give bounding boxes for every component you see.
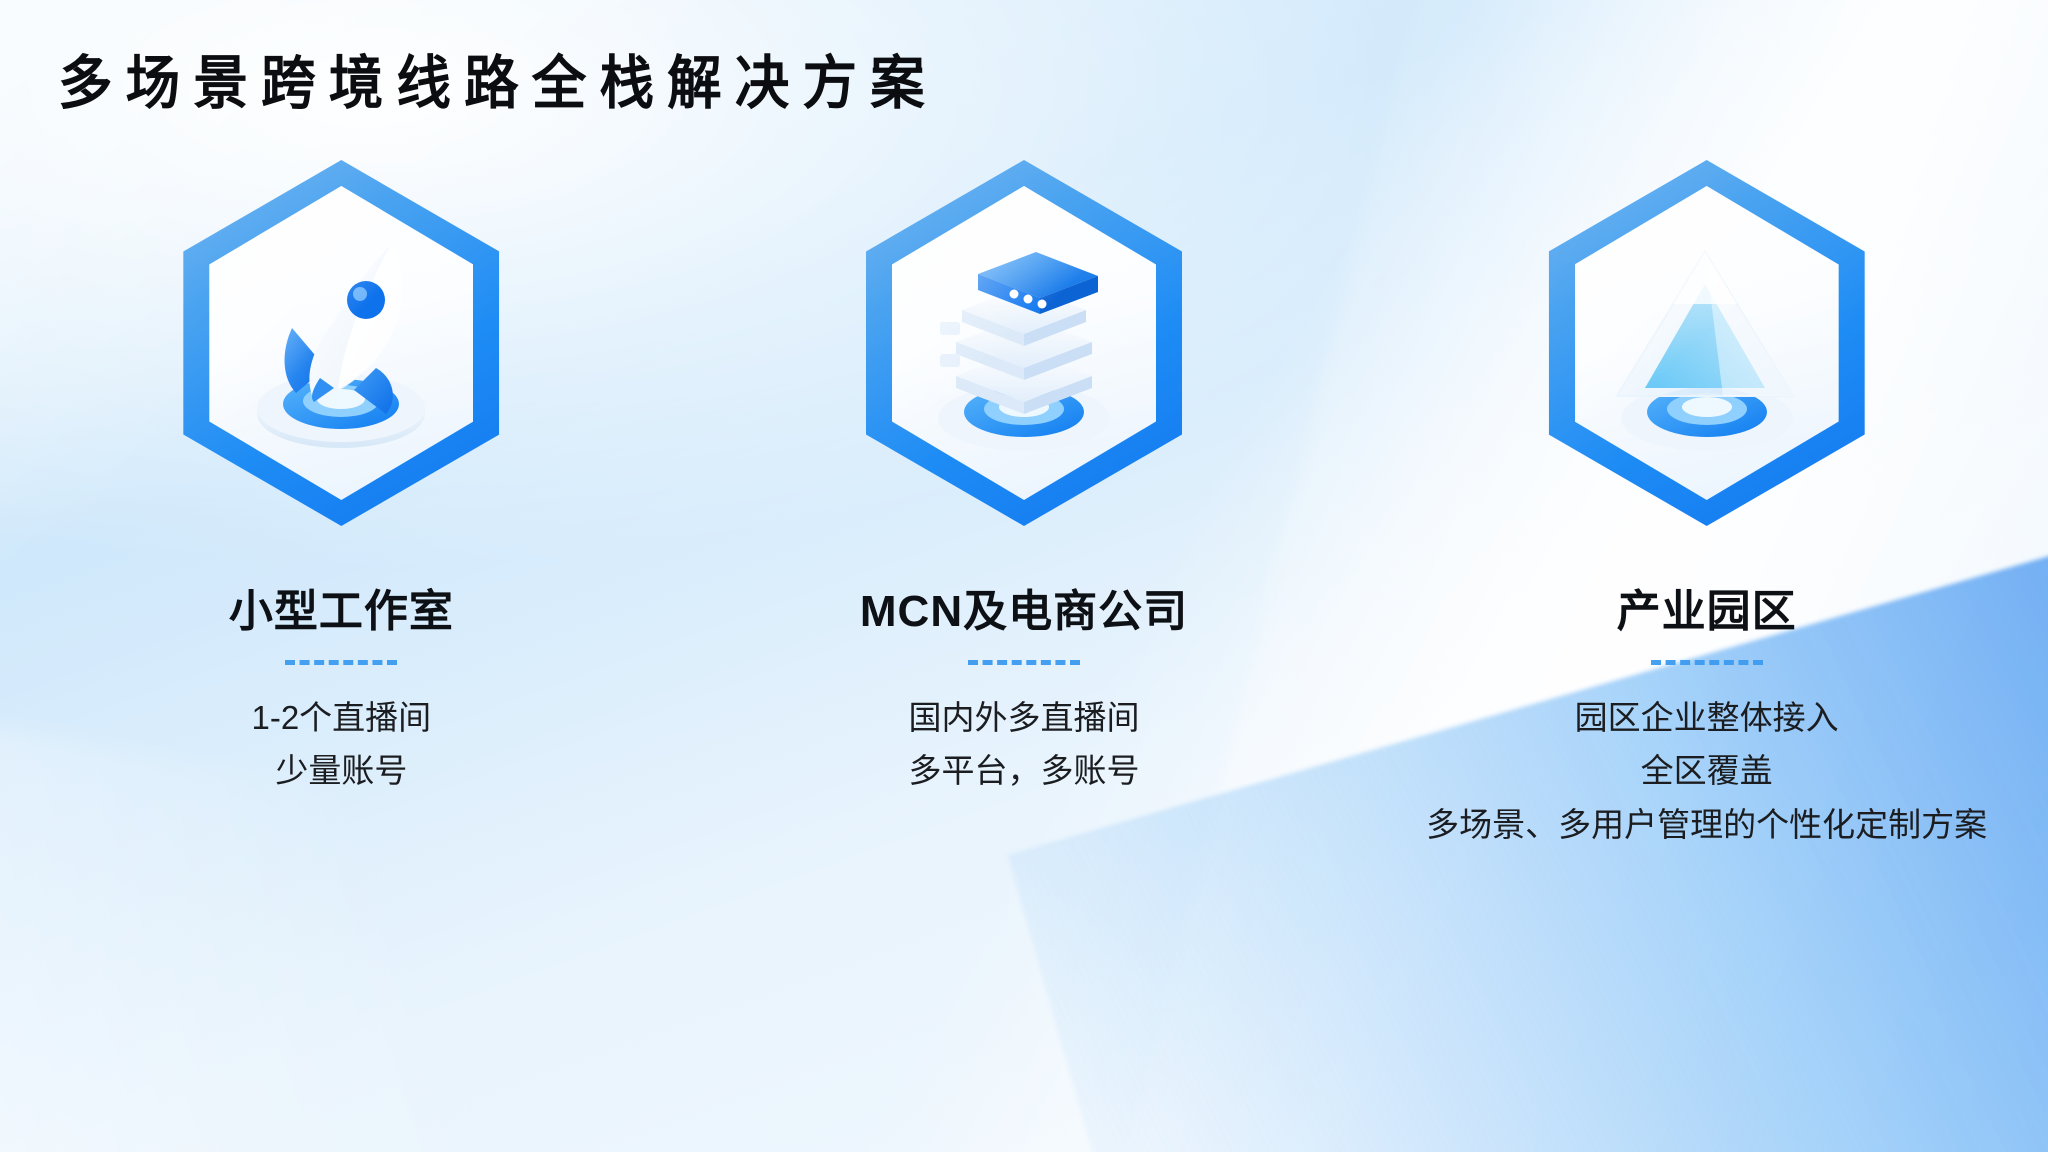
hexagon-badge-2 xyxy=(866,160,1182,526)
card-description: 1-2个直播间 少量账号 xyxy=(251,691,431,798)
pyramid-icon xyxy=(1575,186,1839,500)
card-description-line: 国内外多直播间 xyxy=(909,691,1140,744)
page-title: 多场景跨境线路全栈解决方案 xyxy=(58,52,938,116)
card-description-line: 少量账号 xyxy=(251,744,431,797)
card-description-line: 多平台，多账号 xyxy=(909,744,1140,797)
hexagon-badge-3 xyxy=(1549,160,1865,526)
poster-canvas: 多场景跨境线路全栈解决方案 xyxy=(0,0,2048,1152)
card-title: MCN及电商公司 xyxy=(860,590,1188,634)
card-title: 小型工作室 xyxy=(229,590,454,634)
card-description: 国内外多直播间 多平台，多账号 xyxy=(909,691,1140,798)
card-small-studio[interactable]: 小型工作室 1-2个直播间 少量账号 xyxy=(0,160,683,851)
rocket-icon xyxy=(209,186,473,500)
card-description-line: 园区企业整体接入 xyxy=(1426,691,1987,744)
cards-row: 小型工作室 1-2个直播间 少量账号 xyxy=(0,160,2048,851)
server-stack-icon xyxy=(892,186,1156,500)
card-description: 园区企业整体接入 全区覆盖 多场景、多用户管理的个性化定制方案 xyxy=(1426,691,1987,851)
card-divider xyxy=(1651,660,1763,665)
card-divider xyxy=(285,660,397,665)
card-industrial-park[interactable]: 产业园区 园区企业整体接入 全区覆盖 多场景、多用户管理的个性化定制方案 xyxy=(1365,160,2048,851)
card-description-line: 全区覆盖 xyxy=(1426,744,1987,797)
hexagon-badge-1 xyxy=(183,160,499,526)
card-divider xyxy=(968,660,1080,665)
card-title: 产业园区 xyxy=(1617,590,1797,634)
card-description-line: 1-2个直播间 xyxy=(251,691,431,744)
card-description-line: 多场景、多用户管理的个性化定制方案 xyxy=(1426,798,1987,851)
card-mcn-ecommerce[interactable]: MCN及电商公司 国内外多直播间 多平台，多账号 xyxy=(683,160,1366,851)
